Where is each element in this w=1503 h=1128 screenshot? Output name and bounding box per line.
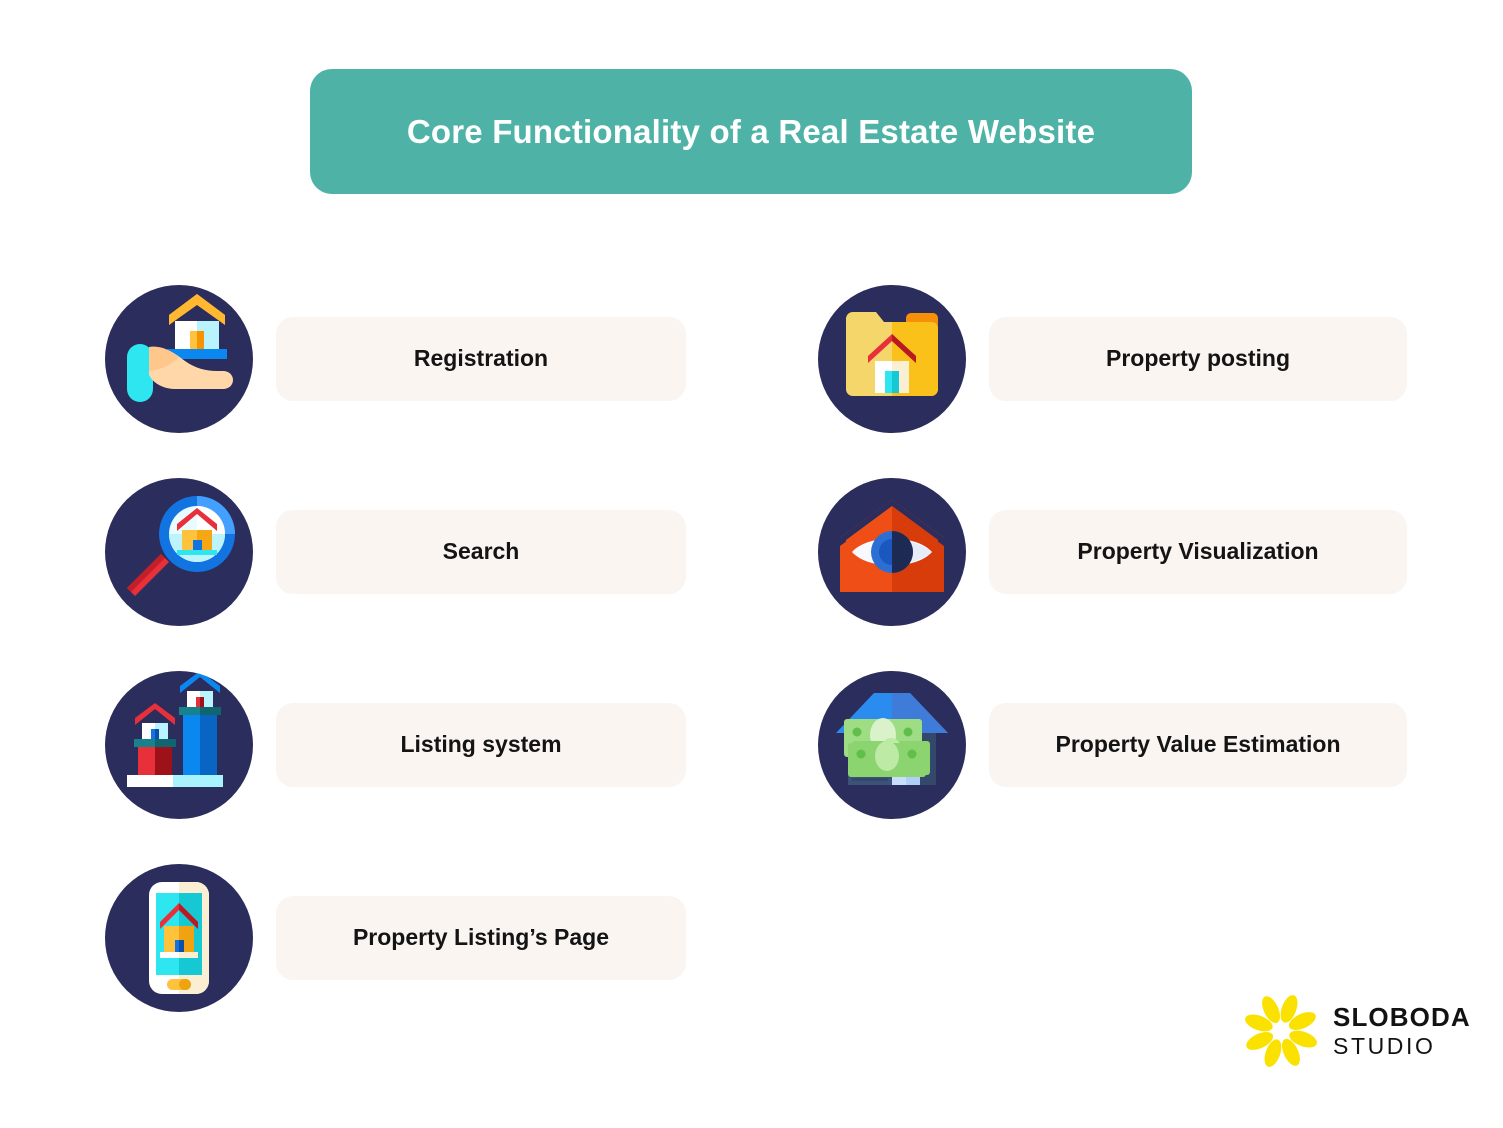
folder-house-icon — [818, 285, 966, 433]
house-bar-chart-icon — [105, 671, 253, 819]
feature-label-pill: Property Listing’s Page — [276, 896, 686, 980]
feature-label-pill: Property posting — [989, 317, 1407, 401]
feature-label-pill: Listing system — [276, 703, 686, 787]
features-column-right: Property posting — [818, 281, 1407, 860]
logo-wordmark: SLOBODA STUDIO — [1333, 1004, 1471, 1058]
flower-petals-icon — [1243, 993, 1319, 1069]
feature-row[interactable]: Property Value Estimation — [818, 667, 1407, 822]
logo-name: SLOBODA — [1333, 1004, 1471, 1030]
feature-row[interactable]: Property Visualization — [818, 474, 1407, 629]
infographic-canvas: Core Functionality of a Real Estate Webs… — [0, 0, 1503, 1128]
features-column-left: Registration — [105, 281, 686, 1053]
feature-label-pill: Search — [276, 510, 686, 594]
magnifier-house-icon — [105, 478, 253, 626]
feature-label-pill: Property Value Estimation — [989, 703, 1407, 787]
feature-label: Property Visualization — [1077, 538, 1318, 565]
header-banner: Core Functionality of a Real Estate Webs… — [310, 69, 1192, 194]
house-eye-icon — [818, 478, 966, 626]
feature-row[interactable]: Listing system — [105, 667, 686, 822]
feature-label: Property Listing’s Page — [353, 924, 609, 951]
logo-subtitle: STUDIO — [1333, 1035, 1471, 1058]
feature-row[interactable]: Property posting — [818, 281, 1407, 436]
house-money-icon — [818, 671, 966, 819]
feature-label-pill: Property Visualization — [989, 510, 1407, 594]
sloboda-studio-logo[interactable]: SLOBODA STUDIO — [1243, 993, 1471, 1069]
feature-row[interactable]: Property Listing’s Page — [105, 860, 686, 1015]
feature-label-pill: Registration — [276, 317, 686, 401]
feature-row[interactable]: Registration — [105, 281, 686, 436]
feature-label: Search — [443, 538, 520, 565]
page-title: Core Functionality of a Real Estate Webs… — [407, 113, 1095, 151]
feature-label: Registration — [414, 345, 548, 372]
feature-label: Listing system — [400, 731, 561, 758]
phone-house-icon — [105, 864, 253, 1012]
feature-label: Property Value Estimation — [1055, 731, 1340, 758]
feature-label: Property posting — [1106, 345, 1290, 372]
hand-holding-house-icon — [105, 285, 253, 433]
feature-row[interactable]: Search — [105, 474, 686, 629]
